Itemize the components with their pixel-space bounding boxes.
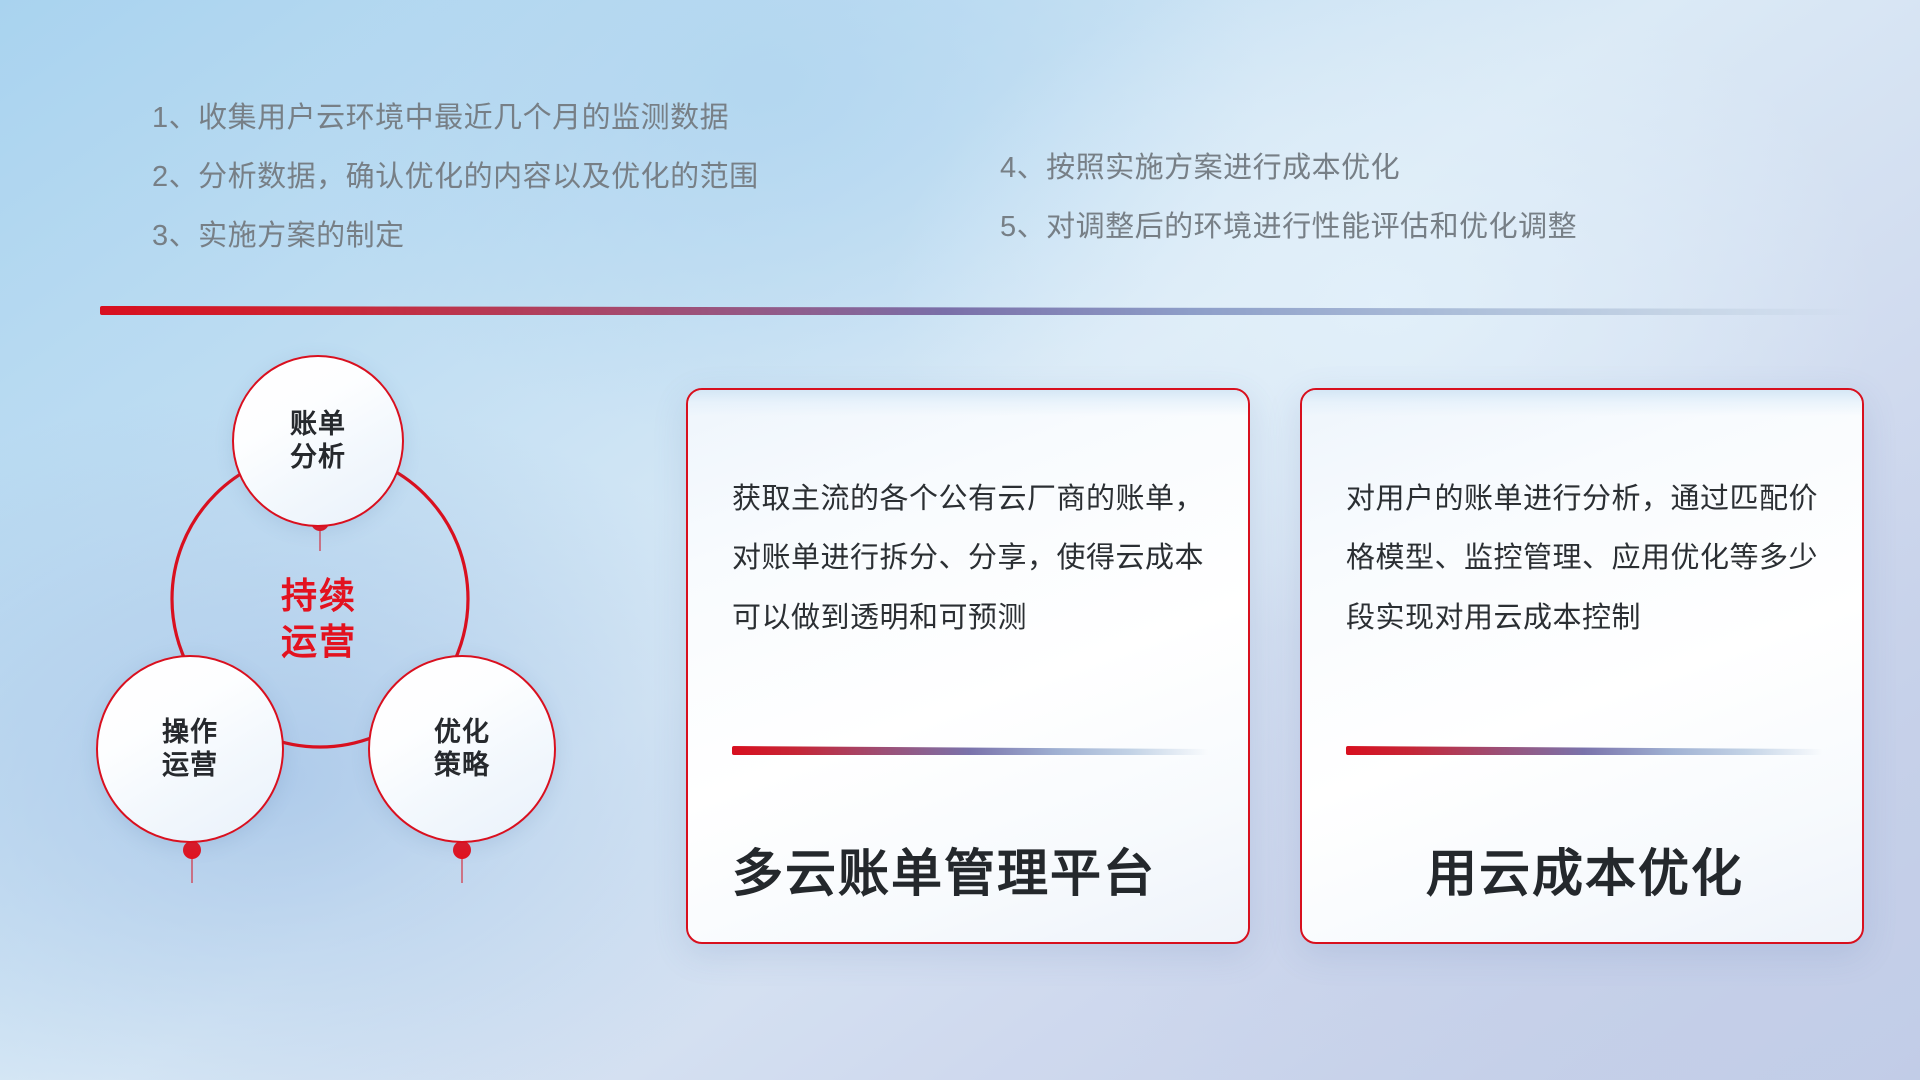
step-item-5: 5、对调整后的环境进行性能评估和优化调整: [1000, 213, 1577, 242]
step-item-4: 4、按照实施方案进行成本优化: [1000, 154, 1577, 183]
node-label-line1: 优化: [434, 716, 490, 749]
node-label-line2: 运营: [162, 749, 218, 782]
continuous-operation-diagram: 账单 分析 操作 运营 优化 策略 持续 运营: [96, 355, 676, 955]
slide-canvas: 1、收集用户云环境中最近几个月的监测数据 2、分析数据，确认优化的内容以及优化的…: [0, 0, 1920, 1080]
connector-dot-bottom-right: [453, 841, 471, 859]
center-label-line1: 持续: [244, 573, 394, 619]
center-label-line2: 运营: [244, 619, 394, 665]
step-item-3: 3、实施方案的制定: [152, 222, 759, 251]
diagram-center-label: 持续 运营: [244, 573, 394, 665]
node-label-line2: 策略: [434, 749, 490, 782]
card-title: 多云账单管理平台: [732, 846, 1210, 902]
node-label-line2: 分析: [290, 441, 346, 474]
diagram-node-operations[interactable]: 操作 运营: [96, 655, 284, 843]
feature-card-cloud-cost-optimization[interactable]: 对用户的账单进行分析，通过匹配价格模型、监控管理、应用优化等多少段实现对用云成本…: [1300, 388, 1864, 944]
diagram-node-bill-analysis[interactable]: 账单 分析: [232, 355, 404, 527]
card-top-fade: [686, 388, 1250, 416]
node-label-line1: 操作: [162, 716, 218, 749]
step-item-2: 2、分析数据，确认优化的内容以及优化的范围: [152, 163, 759, 192]
node-label-line1: 账单: [290, 408, 346, 441]
card-title: 用云成本优化: [1346, 846, 1824, 902]
card-description: 对用户的账单进行分析，通过匹配价格模型、监控管理、应用优化等多少段实现对用云成本…: [1346, 470, 1824, 648]
steps-right-column: 4、按照实施方案进行成本优化 5、对调整后的环境进行性能评估和优化调整: [1000, 154, 1577, 272]
step-item-1: 1、收集用户云环境中最近几个月的监测数据: [152, 104, 759, 133]
divider-gradient-bar: [100, 306, 1860, 315]
card-top-fade: [1300, 388, 1864, 416]
section-divider: [100, 306, 1860, 320]
steps-section: 1、收集用户云环境中最近几个月的监测数据 2、分析数据，确认优化的内容以及优化的…: [0, 104, 1920, 294]
connector-dot-bottom-left: [183, 841, 201, 859]
card-description: 获取主流的各个公有云厂商的账单，对账单进行拆分、分享，使得云成本可以做到透明和可…: [732, 470, 1210, 648]
steps-left-column: 1、收集用户云环境中最近几个月的监测数据 2、分析数据，确认优化的内容以及优化的…: [152, 104, 759, 281]
card-accent-rule: [732, 746, 1208, 755]
diagram-node-optimization-strategy[interactable]: 优化 策略: [368, 655, 556, 843]
feature-card-multicloud-billing[interactable]: 获取主流的各个公有云厂商的账单，对账单进行拆分、分享，使得云成本可以做到透明和可…: [686, 388, 1250, 944]
card-accent-rule: [1346, 746, 1822, 755]
